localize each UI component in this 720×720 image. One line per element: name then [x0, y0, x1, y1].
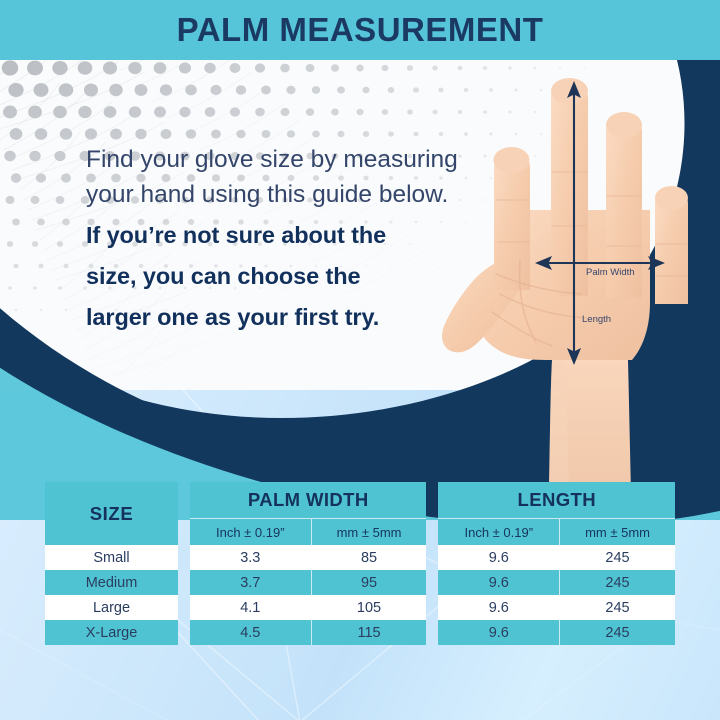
header-length: LENGTH [438, 482, 675, 519]
size-table: SIZE PALM WIDTH LENGTH Inch ± 0.19” mm ±… [45, 482, 675, 645]
table-header-row-group: SIZE PALM WIDTH LENGTH [45, 482, 675, 519]
cell-pw-mm: 115 [311, 620, 427, 645]
table-row: X-Large 4.5 115 9.6 245 [45, 620, 675, 645]
cell-pw-inch: 3.7 [190, 570, 311, 595]
cell-pw-mm: 105 [311, 595, 427, 620]
cell-size: Large [45, 595, 178, 620]
cell-len-mm: 245 [559, 595, 675, 620]
intro-bold-2: size, you can choose the [86, 258, 516, 294]
cell-len-inch: 9.6 [438, 545, 559, 570]
intro-bold-1: If you’re not sure about the [86, 217, 516, 253]
intro-text-block: Find your glove size by measuring your h… [86, 142, 516, 335]
column-gap-1 [178, 482, 190, 645]
intro-bold-3: larger one as your first try. [86, 299, 516, 335]
column-gap-2 [426, 482, 438, 645]
header-size: SIZE [45, 482, 178, 545]
header-bar: PALM MEASUREMENT [0, 0, 720, 60]
size-chart-table: SIZE PALM WIDTH LENGTH Inch ± 0.19” mm ±… [45, 482, 675, 645]
table-row: Small 3.3 85 9.6 245 [45, 545, 675, 570]
cell-len-mm: 245 [559, 545, 675, 570]
cell-len-inch: 9.6 [438, 620, 559, 645]
intro-line-1: Find your glove size by measuring [86, 142, 516, 177]
subheader-len-mm: mm ± 5mm [559, 519, 675, 545]
header-palm-width: PALM WIDTH [190, 482, 426, 519]
table-row: Medium 3.7 95 9.6 245 [45, 570, 675, 595]
intro-line-2: your hand using this guide below. [86, 177, 516, 212]
cell-pw-inch: 4.1 [190, 595, 311, 620]
subheader-pw-mm: mm ± 5mm [311, 519, 427, 545]
cell-size: Medium [45, 570, 178, 595]
cell-pw-inch: 3.3 [190, 545, 311, 570]
cell-pw-mm: 85 [311, 545, 427, 570]
cell-size: Small [45, 545, 178, 570]
subheader-pw-inch: Inch ± 0.19” [190, 519, 311, 545]
cell-len-mm: 245 [559, 570, 675, 595]
length-label: Length [582, 314, 611, 325]
page-title: PALM MEASUREMENT [177, 11, 544, 49]
cell-len-mm: 245 [559, 620, 675, 645]
cell-len-inch: 9.6 [438, 595, 559, 620]
cell-pw-inch: 4.5 [190, 620, 311, 645]
table-row: Large 4.1 105 9.6 245 [45, 595, 675, 620]
cell-pw-mm: 95 [311, 570, 427, 595]
palm-width-label: Palm Width [586, 267, 635, 278]
infographic-canvas: Palm Width Length PALM MEASUREMENT Find … [0, 0, 720, 720]
cell-size: X-Large [45, 620, 178, 645]
cell-len-inch: 9.6 [438, 570, 559, 595]
subheader-len-inch: Inch ± 0.19” [438, 519, 559, 545]
